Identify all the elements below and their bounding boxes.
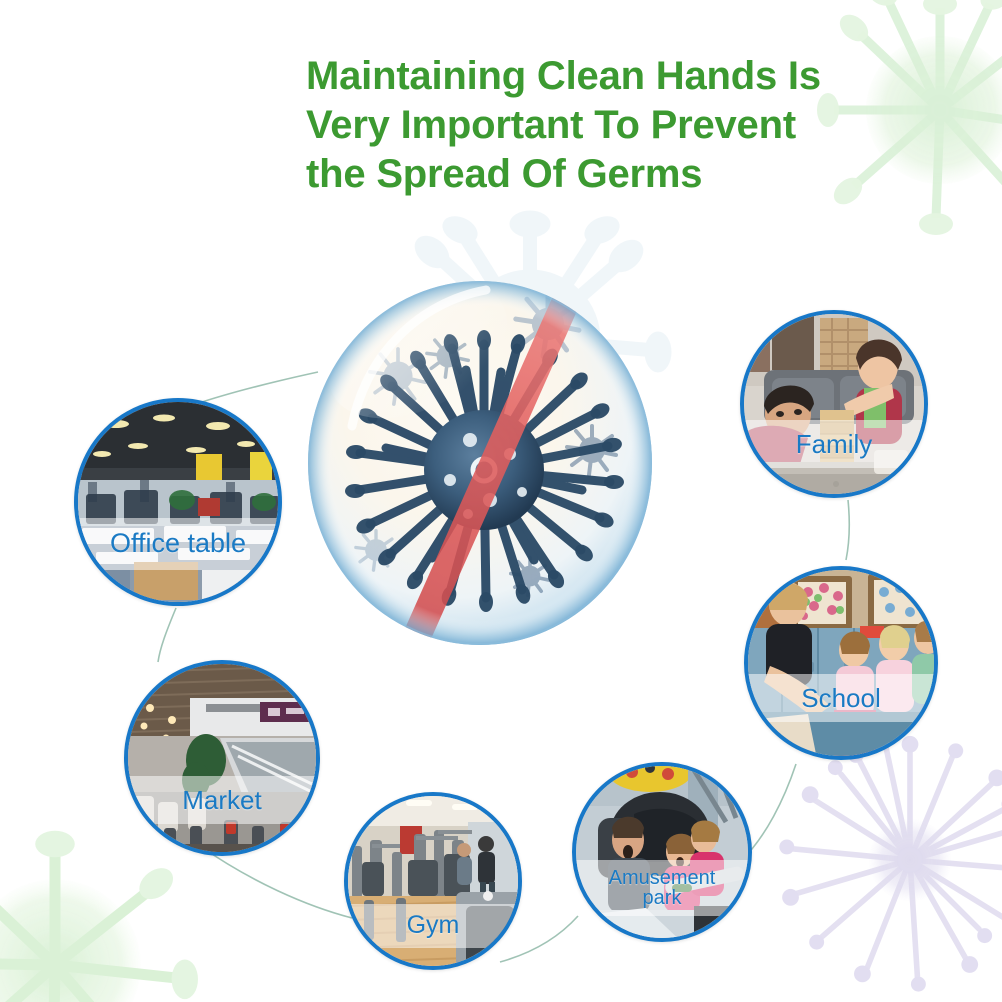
callout-office-table[interactable]: Office table [74, 398, 282, 606]
callout-market[interactable]: Market [124, 660, 320, 856]
callout-label-band: Office table [78, 518, 278, 570]
office-photo [78, 402, 278, 602]
callout-label-band: Market [128, 776, 316, 824]
callout-label: Office table [110, 530, 246, 558]
callout-label-band: Family [744, 420, 924, 468]
callout-family[interactable]: Family [740, 310, 928, 498]
callout-label: Family [796, 431, 873, 458]
callout-label: Market [182, 787, 261, 814]
callout-gym[interactable]: Gym [344, 792, 522, 970]
page-title: Maintaining Clean Hands Is Very Importan… [306, 52, 906, 200]
callout-label-band: Gym [348, 904, 518, 948]
callout-label: School [801, 685, 881, 712]
headline-line-1: Maintaining Clean Hands Is [306, 52, 906, 101]
callout-school[interactable]: School [744, 566, 938, 760]
infographic-canvas: Office table [0, 0, 1002, 1002]
callout-amusement-park[interactable]: Amusement park [572, 762, 752, 942]
central-virus-bubble [280, 258, 680, 668]
headline-line-2: Very Important To Prevent [306, 101, 906, 150]
callout-label-band: Amusement park [576, 860, 748, 916]
purple-virus-watermark-bottom-right [770, 720, 1002, 1000]
callout-label-line2: park [609, 888, 716, 908]
callout-label: Gym [407, 913, 460, 939]
callout-label-line1: Amusement [609, 868, 716, 888]
school-photo [748, 570, 934, 756]
headline-line-3: the Spread Of Germs [306, 150, 906, 199]
callout-label-band: School [748, 674, 934, 722]
